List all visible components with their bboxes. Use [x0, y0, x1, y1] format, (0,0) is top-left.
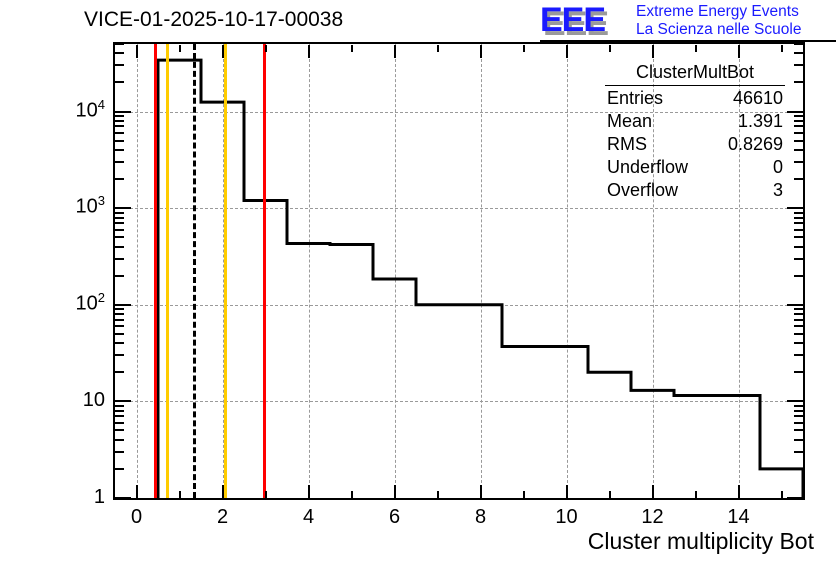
stats-row-value: 0 — [773, 156, 783, 179]
y-tick-right — [794, 149, 803, 151]
y-tick-minor — [115, 371, 124, 373]
y-tick-major — [115, 400, 131, 402]
y-tick-right — [794, 217, 803, 219]
y-tick-right — [787, 111, 803, 113]
x-tick-top — [222, 45, 224, 58]
x-tick-top — [437, 45, 439, 52]
y-tick-right — [794, 415, 803, 417]
x-tick-top — [179, 45, 181, 52]
y-tick-minor — [115, 115, 124, 117]
y-tick-minor — [115, 451, 124, 453]
y-tick-right — [794, 275, 803, 277]
x-tick-major — [652, 485, 654, 498]
y-tick-minor — [115, 354, 124, 356]
y-tick-right — [794, 52, 803, 54]
eee-logo-text: Extreme Energy Events La Scienza nelle S… — [636, 3, 801, 38]
x-tick-major — [781, 491, 783, 498]
stats-row-label: Mean — [607, 110, 652, 133]
y-tick-minor — [115, 468, 124, 470]
y-tick-right — [794, 178, 803, 180]
x-tick-top — [695, 45, 697, 52]
y-tick-minor — [115, 258, 124, 260]
stats-row: RMS0.8269 — [601, 133, 789, 156]
y-tick-minor — [115, 212, 124, 214]
x-tick-top — [265, 45, 267, 52]
stats-row-value: 46610 — [733, 87, 783, 110]
y-tick-minor — [115, 319, 124, 321]
x-tick-top — [351, 45, 353, 52]
stats-row-value: 0.8269 — [728, 133, 783, 156]
x-tick-label: 2 — [193, 506, 253, 529]
y-tick-right — [794, 258, 803, 260]
y-tick-label: 103 — [15, 193, 105, 219]
y-tick-minor — [115, 161, 124, 163]
y-tick-minor — [115, 52, 124, 54]
y-tick-minor — [115, 236, 124, 238]
stats-box-title: ClusterMultBot — [605, 62, 785, 86]
stats-row: Overflow3 — [601, 179, 789, 202]
y-tick-right — [794, 212, 803, 214]
y-tick-minor — [115, 132, 124, 134]
x-tick-major — [179, 491, 181, 498]
page-title: VICE-01-2025-10-17-00038 — [84, 8, 343, 32]
x-axis-title: Cluster multiplicity Bot — [588, 528, 814, 555]
stats-box: ClusterMultBot Entries46610Mean1.391RMS0… — [601, 62, 789, 202]
x-tick-major — [308, 485, 310, 498]
x-tick-top — [781, 45, 783, 52]
x-tick-major — [351, 491, 353, 498]
x-tick-top — [652, 45, 654, 58]
y-tick-right — [794, 325, 803, 327]
x-tick-top — [480, 45, 482, 58]
y-tick-minor — [115, 125, 124, 127]
y-tick-right — [794, 161, 803, 163]
x-tick-label: 4 — [279, 506, 339, 529]
x-tick-major — [566, 485, 568, 498]
y-tick-right — [794, 371, 803, 373]
y-tick-right — [794, 246, 803, 248]
y-tick-minor — [115, 405, 124, 407]
stats-row-label: Underflow — [607, 156, 688, 179]
x-tick-top — [609, 45, 611, 52]
stats-row: Mean1.391 — [601, 110, 789, 133]
eee-logo-mark-front: EEE — [540, 3, 605, 37]
x-tick-major — [394, 485, 396, 498]
stats-row-label: Overflow — [607, 179, 678, 202]
y-tick-minor — [115, 229, 124, 231]
y-tick-right — [794, 120, 803, 122]
y-tick-right — [794, 43, 803, 45]
y-tick-minor — [115, 43, 124, 45]
y-tick-right — [794, 132, 803, 134]
x-tick-label: 12 — [623, 506, 683, 529]
x-tick-label: 10 — [537, 506, 597, 529]
y-tick-right — [794, 115, 803, 117]
y-tick-major — [115, 207, 131, 209]
y-tick-minor — [115, 120, 124, 122]
x-tick-major — [695, 491, 697, 498]
y-tick-right — [794, 140, 803, 142]
y-tick-minor — [115, 222, 124, 224]
y-tick-right — [787, 497, 803, 499]
x-tick-major — [738, 485, 740, 498]
x-tick-top — [738, 45, 740, 58]
x-tick-top — [523, 45, 525, 52]
y-tick-minor — [115, 439, 124, 441]
x-tick-label: 14 — [709, 506, 769, 529]
y-tick-minor — [115, 325, 124, 327]
stats-box-rows: Entries46610Mean1.391RMS0.8269Underflow0… — [601, 87, 789, 202]
x-tick-major — [265, 491, 267, 498]
y-tick-minor — [115, 149, 124, 151]
y-tick-right — [794, 313, 803, 315]
y-tick-minor — [115, 64, 124, 66]
y-tick-label: 102 — [15, 290, 105, 316]
y-tick-minor — [115, 410, 124, 412]
y-tick-right — [794, 81, 803, 83]
y-tick-label: 104 — [15, 97, 105, 123]
x-tick-top — [136, 45, 138, 58]
y-tick-minor — [115, 275, 124, 277]
root-canvas: VICE-01-2025-10-17-00038 EEE EEE Extreme… — [0, 0, 836, 572]
eee-logo-text-line2: La Scienza nelle Scuole — [636, 21, 801, 39]
y-tick-right — [794, 342, 803, 344]
y-tick-right — [794, 319, 803, 321]
y-tick-label: 10 — [15, 389, 105, 412]
y-tick-minor — [115, 415, 124, 417]
y-tick-right — [794, 422, 803, 424]
y-tick-minor — [115, 429, 124, 431]
y-tick-minor — [115, 178, 124, 180]
y-tick-right — [794, 333, 803, 335]
y-tick-right — [794, 222, 803, 224]
stats-row-label: Entries — [607, 87, 663, 110]
y-tick-major — [115, 111, 131, 113]
y-tick-minor — [115, 422, 124, 424]
eee-logo: EEE EEE Extreme Energy Events La Scienza… — [540, 2, 836, 42]
x-tick-major — [222, 485, 224, 498]
eee-logo-text-line1: Extreme Energy Events — [636, 3, 801, 21]
x-tick-label: 0 — [107, 506, 167, 529]
x-tick-major — [437, 491, 439, 498]
y-tick-major — [115, 304, 131, 306]
y-tick-right — [794, 64, 803, 66]
stats-row-label: RMS — [607, 133, 647, 156]
y-tick-major — [115, 497, 131, 499]
y-tick-minor — [115, 342, 124, 344]
x-tick-major — [609, 491, 611, 498]
y-tick-minor — [115, 333, 124, 335]
x-tick-label: 8 — [451, 506, 511, 529]
stats-row-value: 3 — [773, 179, 783, 202]
y-tick-right — [794, 354, 803, 356]
x-tick-major — [523, 491, 525, 498]
y-tick-minor — [115, 308, 124, 310]
y-tick-right — [787, 304, 803, 306]
x-tick-major — [136, 485, 138, 498]
y-tick-minor — [115, 81, 124, 83]
y-tick-right — [794, 410, 803, 412]
y-tick-right — [794, 229, 803, 231]
stats-row: Entries46610 — [601, 87, 789, 110]
y-tick-right — [794, 429, 803, 431]
y-tick-right — [787, 400, 803, 402]
y-tick-right — [794, 236, 803, 238]
y-tick-right — [794, 308, 803, 310]
y-tick-minor — [115, 217, 124, 219]
y-tick-minor — [115, 246, 124, 248]
y-tick-minor — [115, 140, 124, 142]
x-tick-top — [566, 45, 568, 58]
stats-row: Underflow0 — [601, 156, 789, 179]
y-tick-right — [794, 451, 803, 453]
y-tick-right — [794, 468, 803, 470]
x-tick-major — [480, 485, 482, 498]
y-tick-label: 1 — [15, 486, 105, 509]
stats-row-value: 1.391 — [738, 110, 783, 133]
y-tick-right — [794, 125, 803, 127]
y-tick-right — [794, 439, 803, 441]
x-tick-top — [308, 45, 310, 58]
x-tick-top — [394, 45, 396, 58]
y-tick-right — [794, 405, 803, 407]
y-tick-right — [787, 207, 803, 209]
x-tick-label: 6 — [365, 506, 425, 529]
eee-logo-mark: EEE EEE — [540, 3, 632, 37]
y-tick-minor — [115, 313, 124, 315]
